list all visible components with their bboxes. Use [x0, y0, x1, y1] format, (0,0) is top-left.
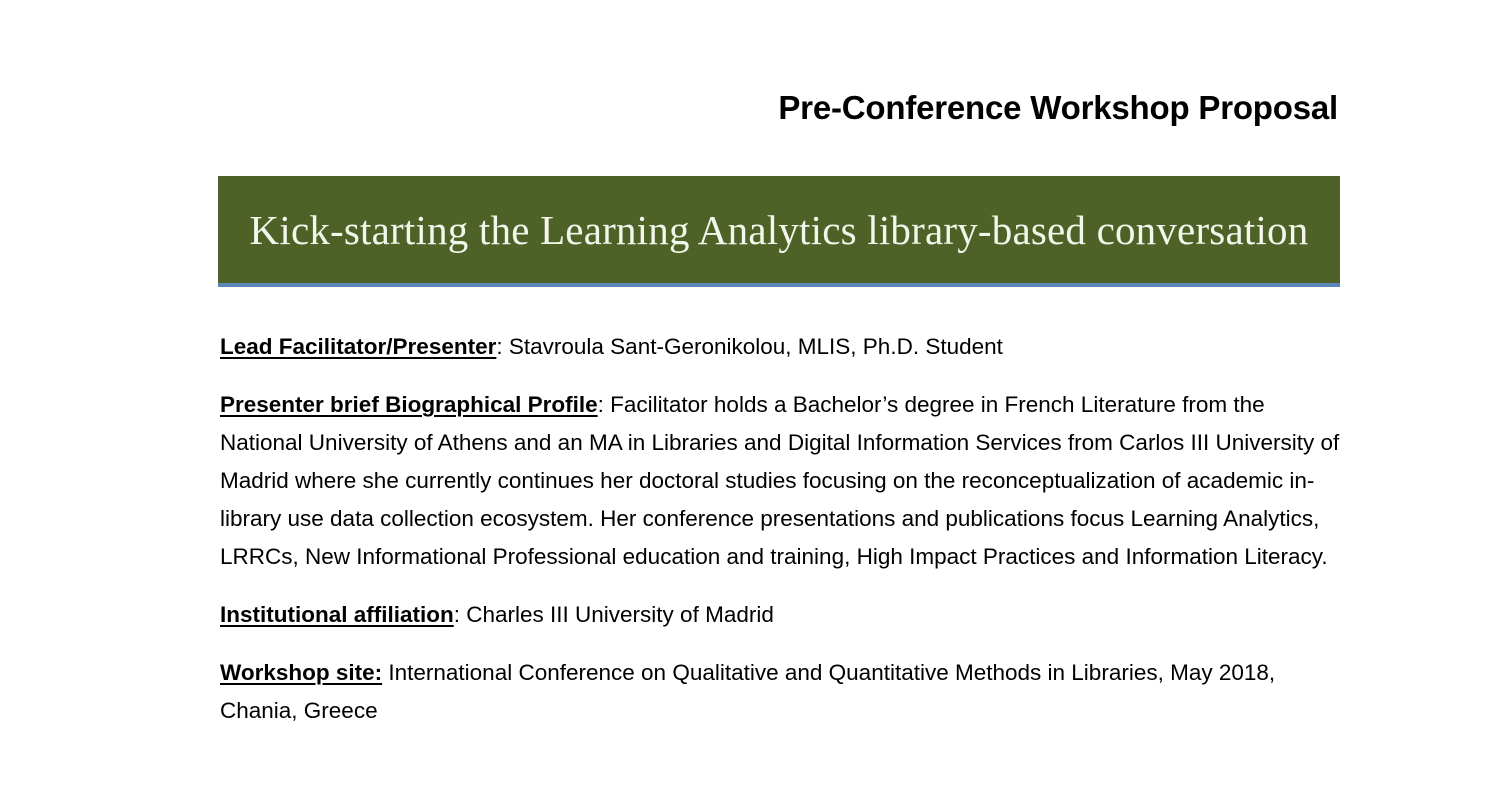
- section-separator: :: [496, 334, 509, 359]
- section-text: Charles III University of Madrid: [466, 602, 774, 627]
- section-institutional-affiliation: Institutional affiliation: Charles III U…: [220, 596, 1340, 634]
- document-body: Lead Facilitator/Presenter: Stavroula Sa…: [220, 328, 1340, 730]
- section-text: Facilitator holds a Bachelor’s degree in…: [220, 392, 1339, 569]
- banner-title-block: Kick-starting the Learning Analytics lib…: [218, 176, 1340, 287]
- section-label: Presenter brief Biographical Profile: [220, 392, 598, 417]
- section-biographical-profile: Presenter brief Biographical Profile: Fa…: [220, 386, 1340, 576]
- section-text: Stavroula Sant-Geronikolou, MLIS, Ph.D. …: [509, 334, 1003, 359]
- page-title: Pre-Conference Workshop Proposal: [220, 88, 1338, 128]
- section-label: Workshop site:: [220, 660, 382, 685]
- section-lead-facilitator: Lead Facilitator/Presenter: Stavroula Sa…: [220, 328, 1340, 366]
- document-page: Pre-Conference Workshop Proposal Kick-st…: [0, 0, 1500, 785]
- section-workshop-site: Workshop site: International Conference …: [220, 654, 1340, 730]
- section-label: Lead Facilitator/Presenter: [220, 334, 496, 359]
- section-label: Institutional affiliation: [220, 602, 454, 627]
- section-separator: :: [598, 392, 611, 417]
- section-separator: :: [454, 602, 467, 627]
- banner-title-text: Kick-starting the Learning Analytics lib…: [224, 204, 1335, 256]
